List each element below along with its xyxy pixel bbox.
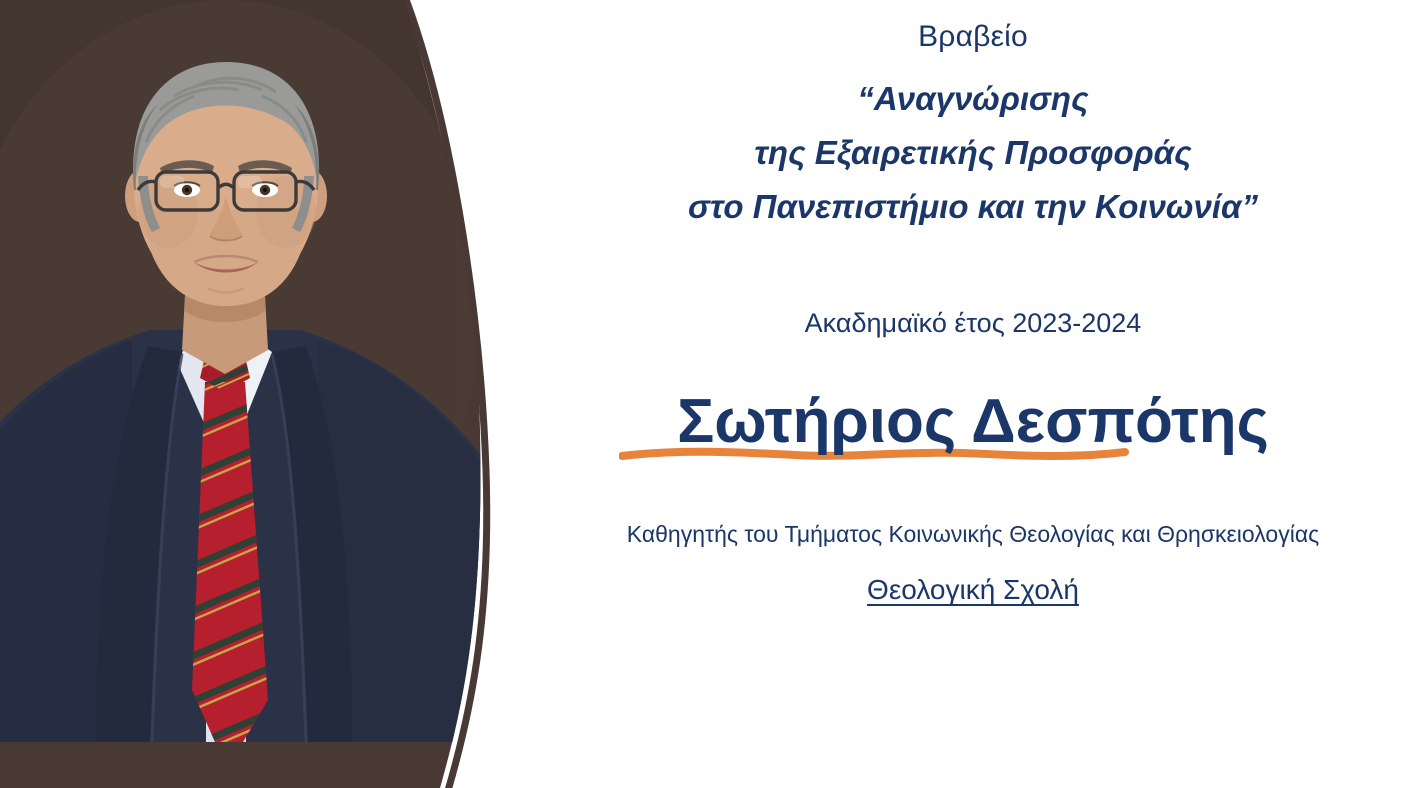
slide-content: Βραβείο “Αναγνώρισης της Εξαιρετικής Προ… bbox=[540, 0, 1406, 788]
panel-shapes bbox=[0, 0, 620, 788]
honoree-name: Σωτήριος Δεσπότης bbox=[677, 387, 1269, 456]
left-decorative-panel bbox=[0, 0, 620, 788]
honoree-role: Καθηγητής του Τμήματος Κοινωνικής Θεολογ… bbox=[540, 487, 1406, 548]
citation-line-2: της Εξαιρετικής Προσφοράς bbox=[540, 126, 1406, 180]
honoree-name-block: Σωτήριος Δεσπότης bbox=[540, 339, 1406, 487]
honoree-school: Θεολογική Σχολή bbox=[540, 548, 1406, 606]
portrait-photo bbox=[0, 0, 492, 788]
academic-year-label: Ακαδημαϊκό έτος 2023-2024 bbox=[540, 234, 1406, 339]
award-citation: “Αναγνώρισης της Εξαιρετικής Προσφοράς σ… bbox=[540, 52, 1406, 234]
award-title: Βραβείο bbox=[540, 0, 1406, 52]
citation-line-3: στο Πανεπιστήμιο και την Κοινωνία” bbox=[540, 180, 1406, 234]
award-slide: Βραβείο “Αναγνώρισης της Εξαιρετικής Προ… bbox=[0, 0, 1406, 788]
citation-line-1: “Αναγνώρισης bbox=[540, 72, 1406, 126]
